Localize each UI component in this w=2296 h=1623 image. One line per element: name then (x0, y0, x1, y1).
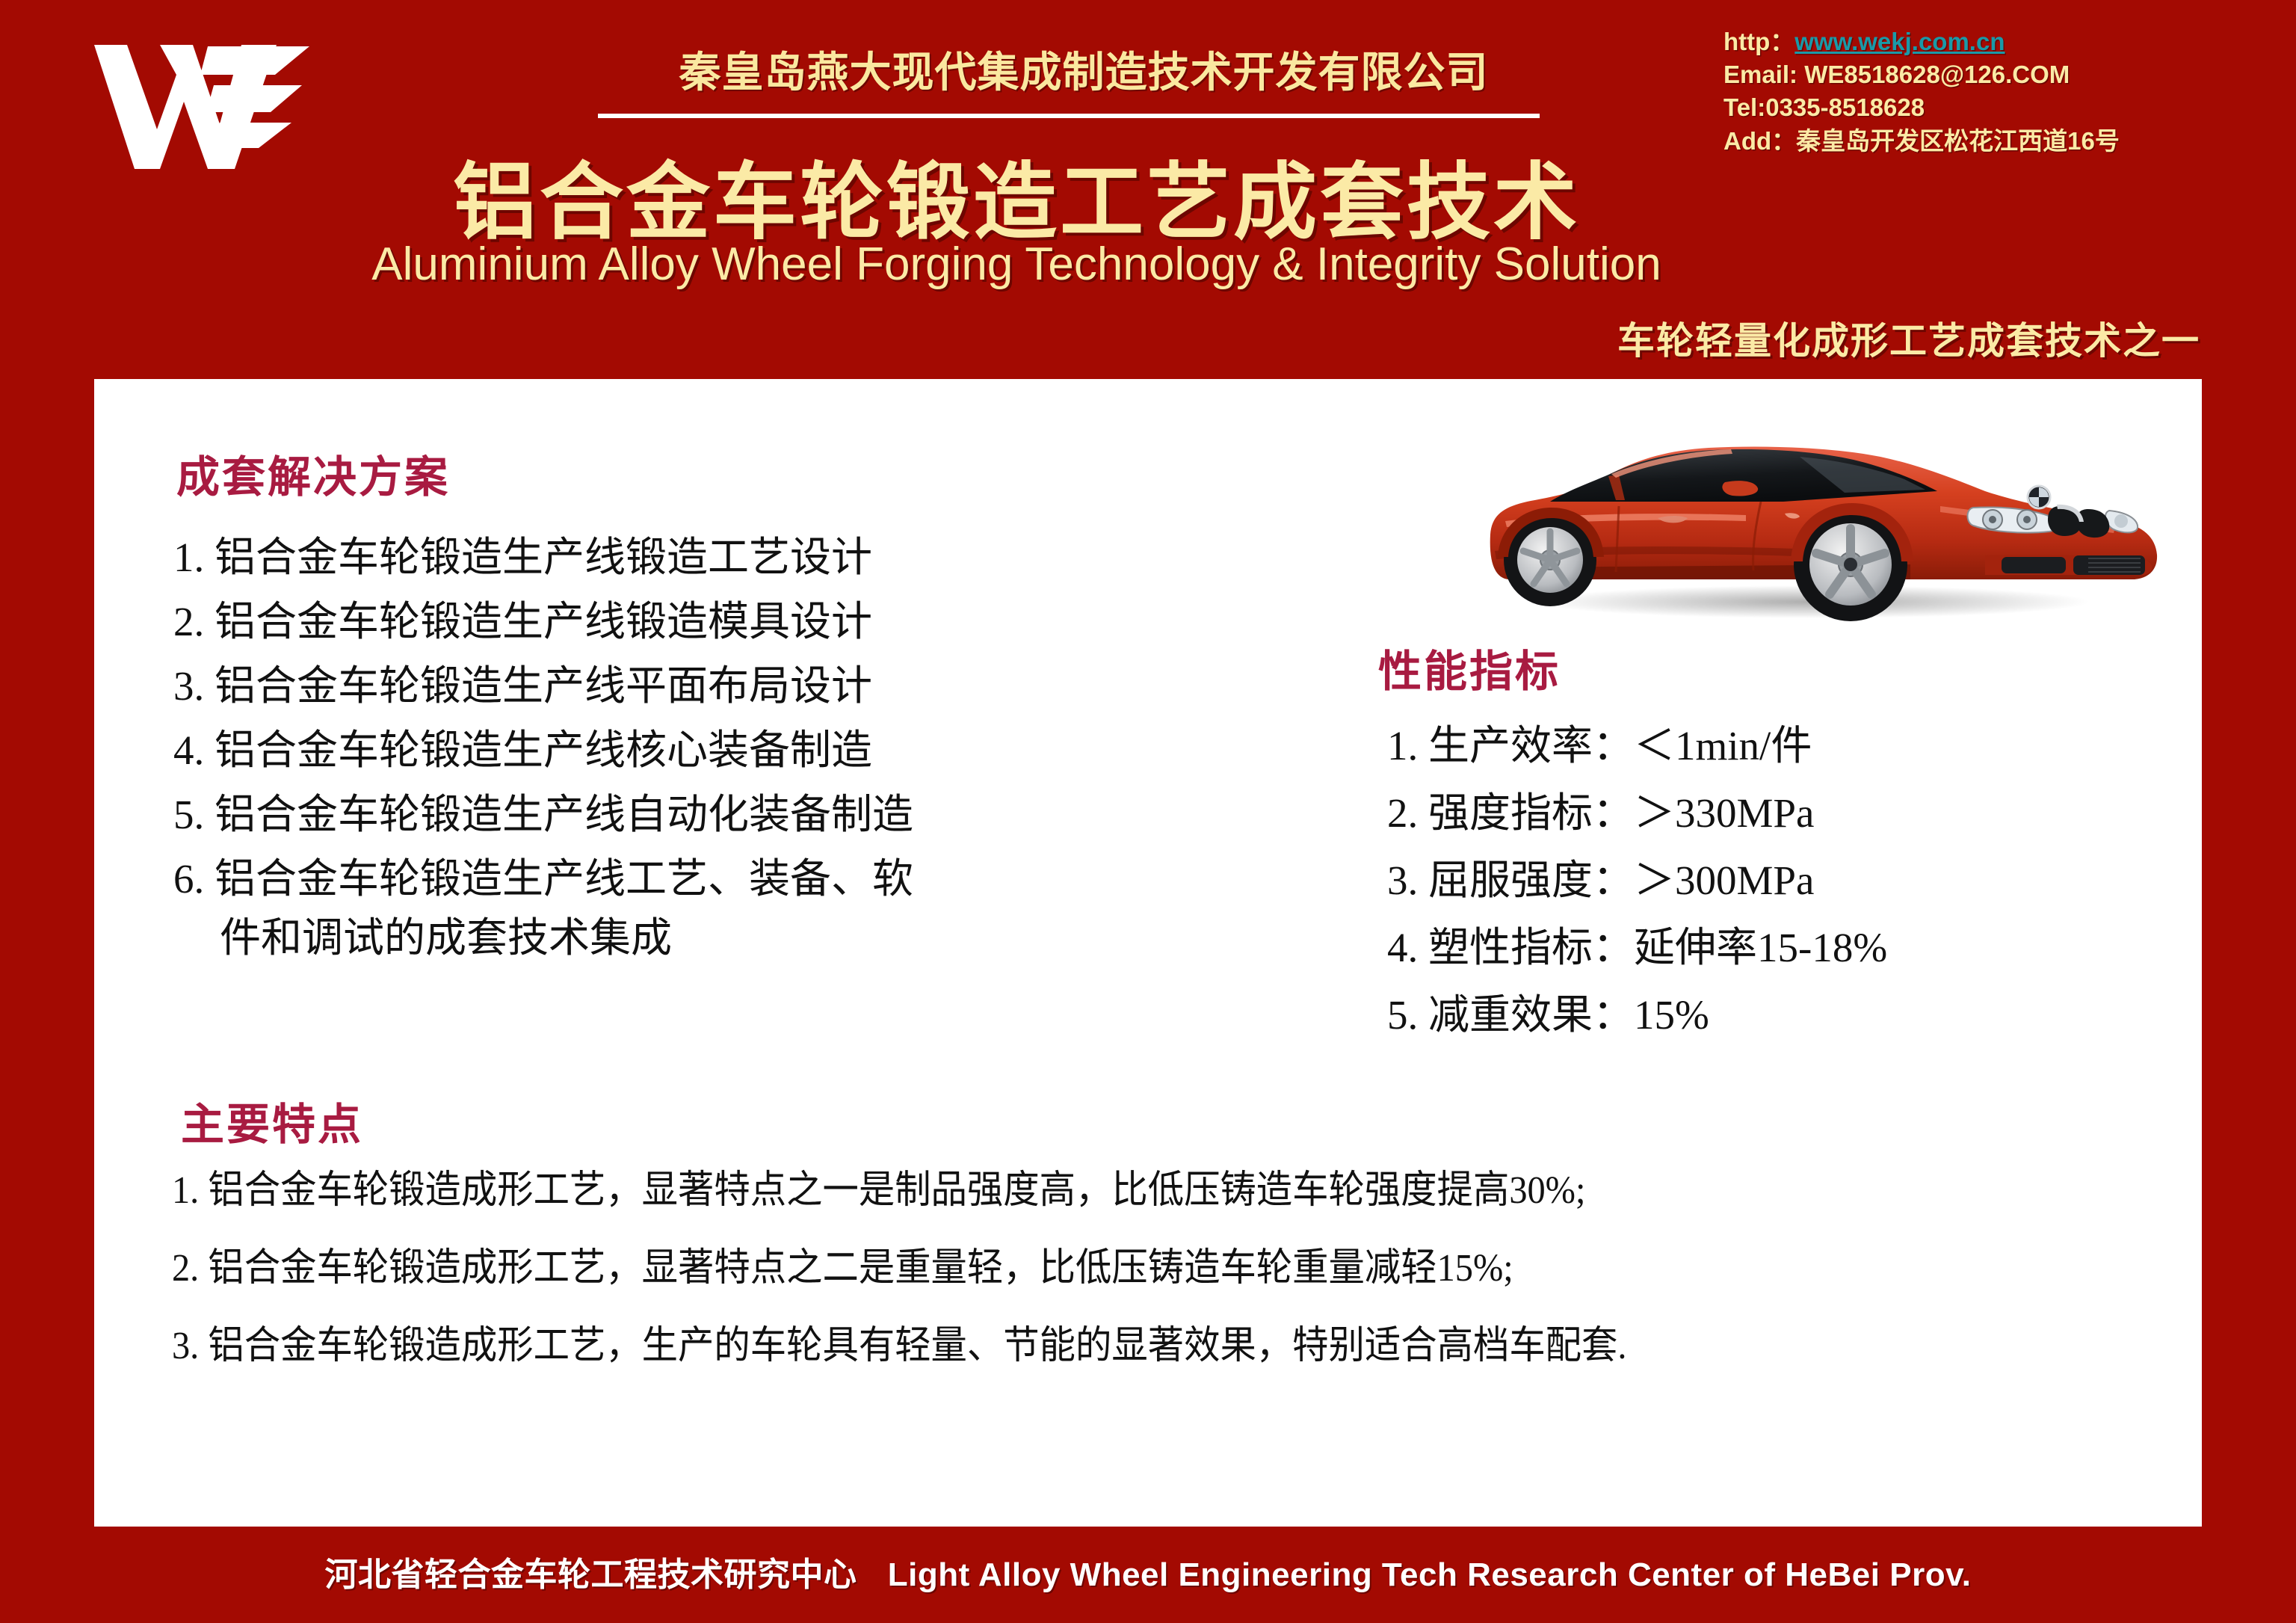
performance-list: 1. 生产效率：＜1min/件 2. 强度指标：＞330MPa 3. 屈服强度：… (1387, 717, 2179, 1053)
list-item: 1. 生产效率：＜1min/件 (1387, 717, 2179, 775)
list-item: 5. 铝合金车轮锻造生产线自动化装备制造 (173, 786, 1220, 844)
page-title-en: Aluminium Alloy Wheel Forging Technology… (329, 238, 1704, 291)
list-item: 4. 铝合金车轮锻造生产线核心装备制造 (173, 721, 1220, 780)
list-item-line1: 6. 铝合金车轮锻造生产线工艺、装备、软 (173, 856, 913, 902)
poster-root: 秦皇岛燕大现代集成制造技术开发有限公司 铝合金车轮锻造工艺成套技术 Alumin… (0, 0, 2296, 1623)
list-item: 2. 铝合金车轮锻造生产线锻造模具设计 (173, 593, 1220, 651)
section-heading-features: 主要特点 (181, 1089, 363, 1152)
page-subtitle-cn: 车轮轻量化成形工艺成套技术之一 (1617, 311, 2200, 365)
list-item: 6. 铝合金车轮锻造生产线工艺、装备、软 件和调试的成套技术集成 (173, 850, 1220, 967)
list-item: 4. 塑性指标：延伸率15-18% (1387, 919, 2179, 977)
list-item: 1. 铝合金车轮锻造成形工艺，显著特点之一是制品强度高，比低压铸造车轮强度提高3… (172, 1171, 2021, 1210)
contact-block: http：www.wekj.com.cn Email: WE8518628@12… (1723, 25, 2120, 158)
we-wing-logo-icon (88, 28, 312, 170)
list-item: 3. 屈服强度：＞300MPa (1387, 851, 2179, 910)
contact-website-row: http：www.wekj.com.cn (1723, 25, 2120, 58)
list-item: 2. 强度指标：＞330MPa (1387, 784, 2179, 843)
red-coupe-car-photo (1462, 401, 2172, 626)
footer-text-cn: 河北省轻合金车轮工程技术研究中心 (324, 1556, 857, 1594)
footer-bar: 河北省轻合金车轮工程技术研究中心 Light Alloy Wheel Engin… (0, 1547, 2296, 1595)
section-heading-performance: 性能指标 (1378, 636, 1561, 699)
list-item: 5. 减重效果：15% (1387, 986, 2179, 1044)
contact-address: Add：秦皇岛开发区松花江西道16号 (1723, 125, 2120, 158)
contact-http-label: http： (1723, 28, 1794, 55)
list-item: 1. 铝合金车轮锻造生产线锻造工艺设计 (173, 529, 1220, 587)
list-item-line2: 件和调试的成套技术集成 (173, 909, 1220, 967)
section-heading-solution: 成套解决方案 (176, 442, 450, 505)
content-panel: 成套解决方案 1. 铝合金车轮锻造生产线锻造工艺设计 2. 铝合金车轮锻造生产线… (94, 379, 2202, 1527)
solution-list: 1. 铝合金车轮锻造生产线锻造工艺设计 2. 铝合金车轮锻造生产线锻造模具设计 … (173, 529, 1220, 973)
company-name: 秦皇岛燕大现代集成制造技术开发有限公司 (590, 39, 1577, 99)
list-item: 3. 铝合金车轮锻造成形工艺，生产的车轮具有轻量、节能的显著效果，特别适合高档车… (172, 1327, 2021, 1366)
contact-email: Email: WE8518628@126.COM (1723, 58, 2120, 91)
footer-text-en: Light Alloy Wheel Engineering Tech Resea… (888, 1556, 1972, 1593)
header-divider (598, 114, 1540, 118)
list-item: 3. 铝合金车轮锻造生产线平面布局设计 (173, 657, 1220, 715)
company-website-link[interactable]: www.wekj.com.cn (1794, 28, 2005, 55)
list-item: 2. 铝合金车轮锻造成形工艺，显著特点之二是重量轻，比低压铸造车轮重量减轻15%… (172, 1249, 2021, 1288)
contact-tel: Tel:0335-8518628 (1723, 91, 2120, 124)
feature-list: 1. 铝合金车轮锻造成形工艺，显著特点之一是制品强度高，比低压铸造车轮强度提高3… (172, 1171, 2160, 1405)
